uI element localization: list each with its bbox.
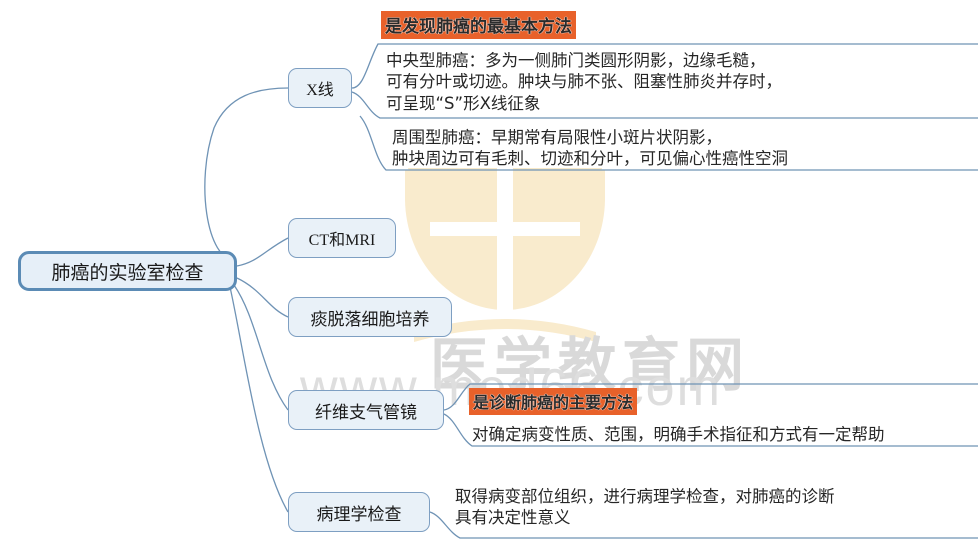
branch-label-pathology: 病理学检查 xyxy=(317,500,402,525)
root-node[interactable]: 肺癌的实验室检查 xyxy=(18,251,237,291)
branch-label-bronchoscopy: 纤维支气管镜 xyxy=(315,398,417,423)
highlight-bronchoscopy: 是诊断肺癌的主要方法 xyxy=(469,388,637,415)
branch-node-bronchoscopy[interactable]: 纤维支气管镜 xyxy=(288,390,444,430)
detail-bronchoscopy: 对确定病变性质、范围，明确手术指征和方式有一定帮助 xyxy=(472,424,885,445)
branch-node-xray[interactable]: X线 xyxy=(288,68,352,108)
link-root-ct xyxy=(237,238,288,266)
branch-node-sputum[interactable]: 痰脱落细胞培养 xyxy=(288,297,452,337)
highlight-xray: 是发现肺癌的最基本方法 xyxy=(381,11,576,39)
link-root-pathology xyxy=(230,287,288,512)
detail-xray-central: 中央型肺癌：多为一侧肺门类圆形阴影，边缘毛糙， 可有分叶或切迹。肿块与肺不张、阻… xyxy=(386,50,782,114)
mindmap-canvas: 医学教育网 www.med66.com xyxy=(0,0,980,549)
branch-node-pathology[interactable]: 病理学检查 xyxy=(288,492,430,532)
branch-node-ct-mri[interactable]: CT和MRI xyxy=(288,218,396,258)
branch-label-ct-mri: CT和MRI xyxy=(309,226,376,250)
link-root-sputum xyxy=(237,278,288,317)
root-node-label: 肺癌的实验室检查 xyxy=(51,258,203,285)
link-root-xray xyxy=(205,88,288,262)
detail-pathology: 取得病变部位组织，进行病理学检查，对肺癌的诊断 具有决定性意义 xyxy=(455,486,835,529)
link-root-bronchoscopy xyxy=(234,285,288,410)
branch-label-xray: X线 xyxy=(306,76,334,100)
watermark-logo-icon xyxy=(400,160,610,375)
detail-xray-peripheral: 周围型肺癌：早期常有局限性小斑片状阴影， 肿块周边可有毛刺、切迹和分叶，可见偏心… xyxy=(392,127,788,170)
branch-label-sputum: 痰脱落细胞培养 xyxy=(311,305,430,330)
